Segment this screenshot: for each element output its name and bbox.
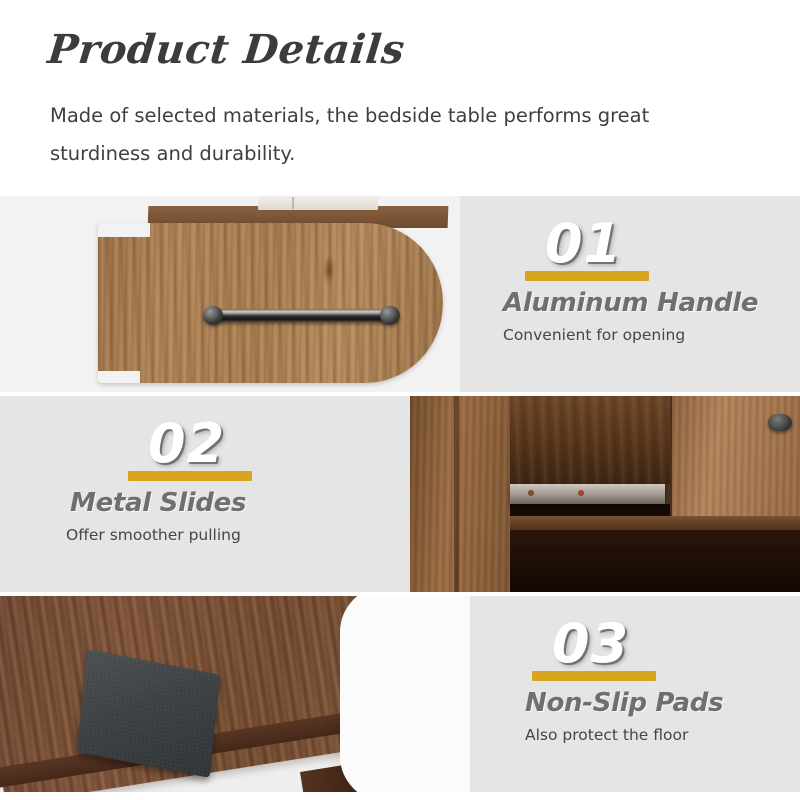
cabinet-side-panel — [410, 396, 510, 592]
feature-title: Metal Slides — [70, 488, 246, 518]
rail-screw-right — [578, 490, 584, 496]
feature-image-02 — [410, 396, 800, 592]
feature-number-block-02: 02 — [128, 411, 278, 486]
drawer-notch-bottom — [98, 371, 140, 383]
feature-number: 03 — [552, 617, 629, 671]
wood-knot — [323, 255, 335, 285]
drawer-notch-top — [98, 223, 150, 237]
header: Product Details Made of selected materia… — [0, 0, 800, 196]
feature-subtitle: Also protect the floor — [525, 726, 688, 744]
drawer-interior — [510, 396, 670, 484]
handle-cap-left — [203, 306, 223, 325]
handle-cap-right — [380, 306, 400, 325]
feature-title: Aluminum Handle — [503, 288, 758, 318]
page-subtitle: Made of selected materials, the bedside … — [50, 97, 750, 173]
feature-copy-01: 01 Aluminum Handle Convenient for openin… — [460, 196, 800, 392]
feature-number: 01 — [545, 217, 622, 271]
feature-number-block-01: 01 — [525, 211, 675, 286]
feature-subtitle: Convenient for opening — [503, 326, 685, 344]
feature-image-03 — [0, 596, 470, 792]
cabinet-shelf — [510, 516, 800, 530]
feature-copy-03: 03 Non-Slip Pads Also protect the floor — [470, 596, 800, 792]
product-details-page: Product Details Made of selected materia… — [0, 0, 800, 800]
feature-copy-02: 02 Metal Slides Offer smoother pulling — [0, 396, 410, 592]
drawer-gap-shadow — [510, 504, 670, 516]
feature-image-01 — [0, 196, 460, 392]
feature-number-block-03: 03 — [532, 611, 682, 686]
cabinet-dark-cavity — [510, 530, 800, 592]
feature-subtitle: Offer smoother pulling — [66, 526, 241, 544]
grain-layer-a — [410, 396, 510, 592]
panel-edge-shadow — [454, 396, 459, 592]
cabinet-knob — [768, 414, 792, 431]
feature-number: 02 — [148, 417, 225, 471]
image-white-panel — [340, 596, 470, 792]
wood-grain-texture — [98, 223, 443, 383]
feature-section-02: 02 Metal Slides Offer smoother pulling — [0, 396, 800, 592]
tabletop-objects — [258, 196, 378, 210]
grain-layer-b — [510, 396, 670, 484]
rail-screw-left — [528, 490, 534, 496]
page-title: Product Details — [46, 26, 408, 73]
feature-section-01: 01 Aluminum Handle Convenient for openin… — [0, 196, 800, 392]
aluminum-handle-bar — [210, 309, 390, 322]
drawer-front — [98, 223, 443, 383]
feature-section-03: 03 Non-Slip Pads Also protect the floor — [0, 596, 800, 792]
grain-layer-b — [98, 223, 443, 383]
feature-title: Non-Slip Pads — [525, 688, 723, 718]
